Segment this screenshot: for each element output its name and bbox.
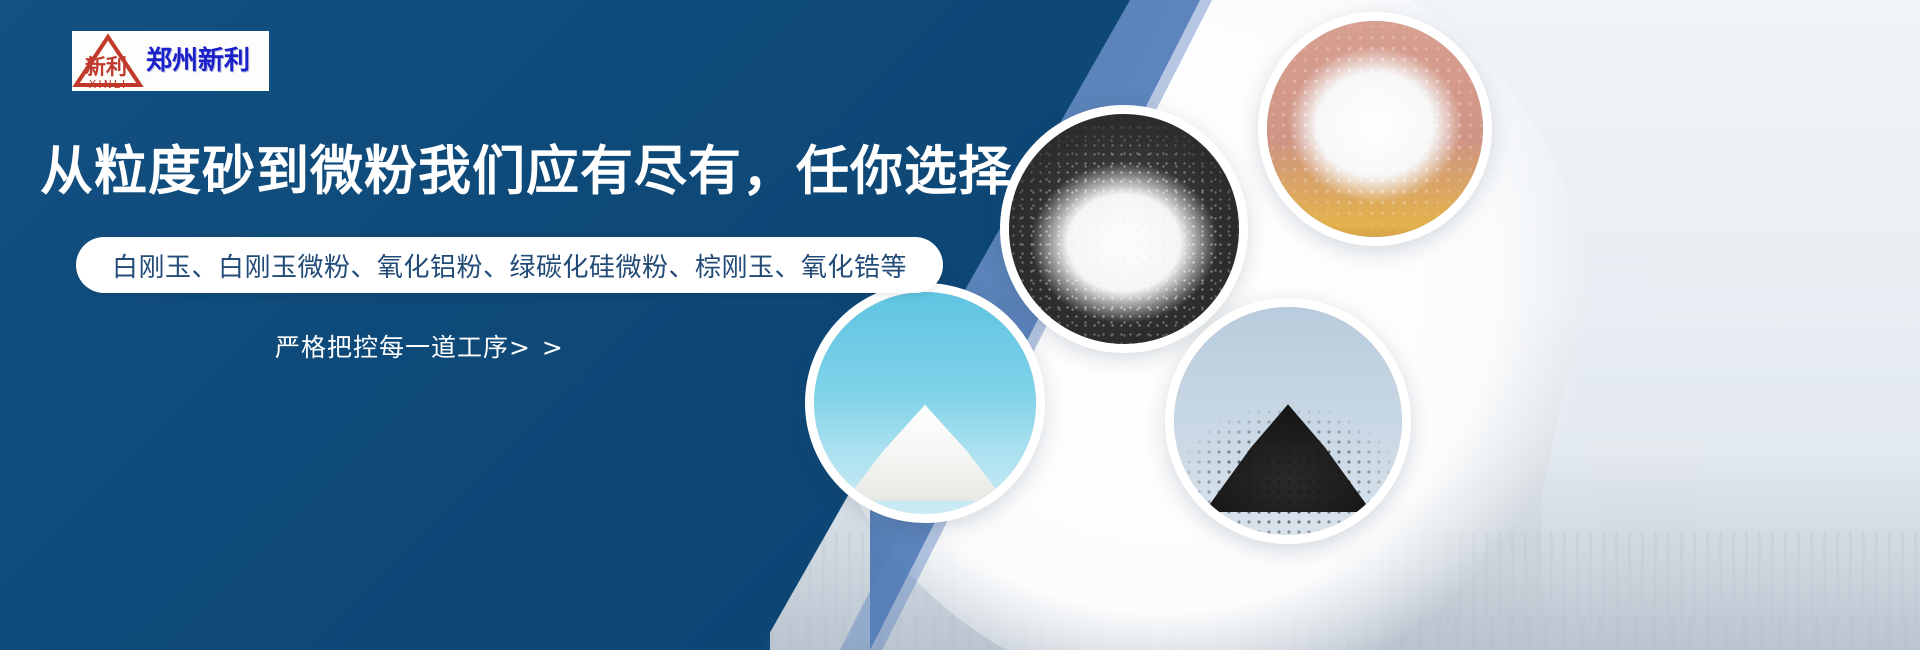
svg-text:XINLI: XINLI (89, 78, 127, 90)
chevron-right-icon: > > (509, 333, 565, 362)
product-list-text: 白刚玉、白刚玉微粉、氧化铝粉、绿碳化硅微粉、棕刚玉、氧化锆等 (112, 247, 907, 284)
triangle-emblem-icon: 新利 XINLI (72, 32, 144, 90)
process-quality-text: 严格把控每一道工序 (275, 333, 509, 362)
white-micropowder-pile-photo (814, 292, 1036, 514)
hero-headline: 从粒度砂到微粉我们应有尽有，任你选择 (40, 142, 1012, 201)
company-logo[interactable]: 新利 XINLI 郑州新利 (72, 31, 269, 91)
logo-company-name: 郑州新利 (146, 48, 250, 74)
product-circle-black-silicon-carbide (1165, 298, 1411, 544)
black-silicon-carbide-photo (1174, 307, 1402, 535)
product-circle-white-micropowder-pile (805, 283, 1045, 523)
promotional-banner: 新利 XINLI 郑州新利 从粒度砂到微粉我们应有尽有，任你选择 白刚玉、白刚玉… (0, 0, 1920, 650)
process-quality-link[interactable]: 严格把控每一道工序> > (275, 328, 565, 364)
svg-text:新利: 新利 (85, 55, 127, 79)
product-list-pill[interactable]: 白刚玉、白刚玉微粉、氧化铝粉、绿碳化硅微粉、棕刚玉、氧化锆等 (76, 237, 943, 293)
white-alumina-powder-photo (1267, 21, 1483, 237)
product-circle-white-alumina-powder (1258, 12, 1492, 246)
